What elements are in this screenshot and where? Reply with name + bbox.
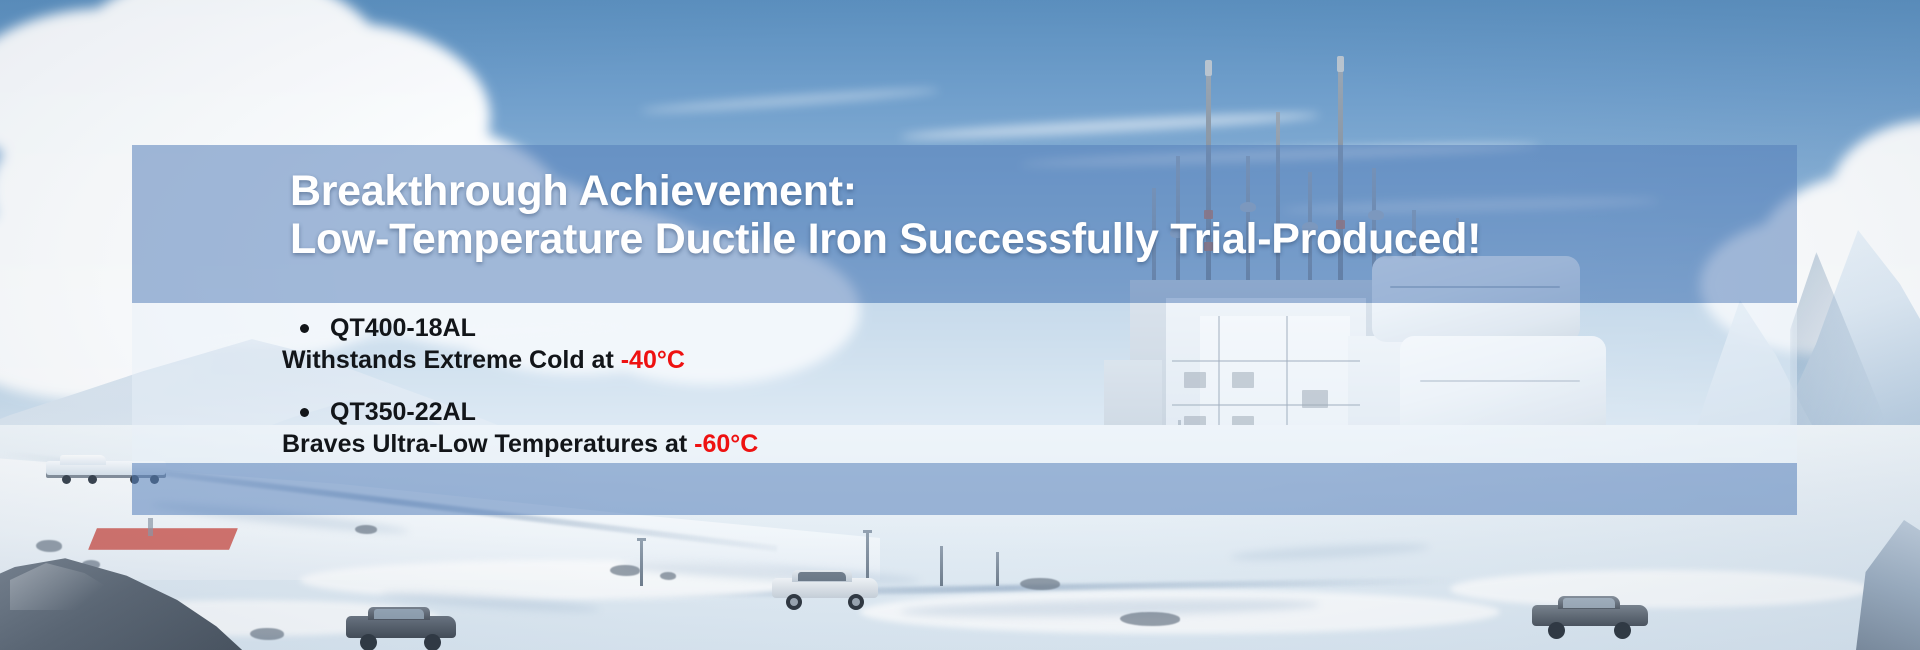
bullet-item-2: QT350-22AL Braves Ultra-Low Temperatures… xyxy=(282,397,1682,459)
rock-debris xyxy=(660,572,676,580)
headline-title: Breakthrough Achievement: Low-Temperatur… xyxy=(290,167,1750,263)
marker-pole xyxy=(940,546,943,586)
pole-cap xyxy=(863,530,872,533)
headline-line-2: Low-Temperature Ductile Iron Successfull… xyxy=(290,215,1750,263)
headline-line-1: Breakthrough Achievement: xyxy=(290,167,857,215)
ground-marker xyxy=(88,528,238,550)
rock-debris xyxy=(355,525,377,534)
marker-pole xyxy=(148,518,153,536)
bullet-dot-icon xyxy=(300,324,309,333)
bullet-item-1: QT400-18AL Withstands Extreme Cold at -4… xyxy=(282,313,1682,375)
temperature-value-2: -60°C xyxy=(694,430,758,458)
marker-pole xyxy=(640,540,643,586)
bullet-grade-label-2: QT350-22AL xyxy=(330,398,476,426)
parked-suv-left xyxy=(346,606,456,648)
parked-sedan-right xyxy=(1532,594,1648,636)
temperature-value-1: -40°C xyxy=(621,346,685,374)
bullet-grade-row-2: QT350-22AL xyxy=(282,397,1682,427)
bullet-description-text-2: Braves Ultra-Low Temperatures at xyxy=(282,430,694,458)
bullet-list: QT400-18AL Withstands Extreme Cold at -4… xyxy=(282,313,1682,459)
rock-debris xyxy=(1120,612,1180,626)
marker-pole xyxy=(996,552,999,586)
pole-cap xyxy=(637,538,646,541)
bullet-dot-icon xyxy=(300,408,309,417)
parked-suv-center xyxy=(772,568,878,608)
bullet-description-text-1: Withstands Extreme Cold at xyxy=(282,346,621,374)
rock-debris xyxy=(610,565,640,576)
bullet-description-2: Braves Ultra-Low Temperatures at -60°C xyxy=(282,429,1682,459)
rock-debris xyxy=(250,628,284,640)
bullet-description-1: Withstands Extreme Cold at -40°C xyxy=(282,345,1682,375)
rock-debris xyxy=(1020,578,1060,590)
bullet-grade-row-1: QT400-18AL xyxy=(282,313,1682,343)
snow-drift xyxy=(1450,570,1870,608)
panel-band-bottom xyxy=(132,463,1797,515)
bullet-grade-label-1: QT400-18AL xyxy=(330,314,476,342)
rock-debris xyxy=(36,540,62,552)
banner-screenshot: Breakthrough Achievement: Low-Temperatur… xyxy=(0,0,1920,650)
headline-overlay-panel: Breakthrough Achievement: Low-Temperatur… xyxy=(132,145,1797,515)
